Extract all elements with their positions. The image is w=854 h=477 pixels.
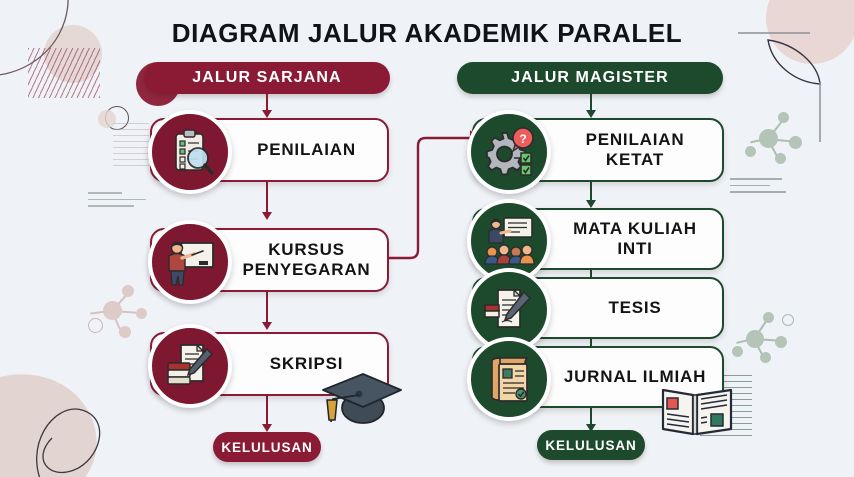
clipboard-magnifier-icon	[148, 110, 232, 194]
line-group-left	[88, 192, 150, 212]
small-beige-circle-top-left	[98, 110, 116, 128]
svg-text:?: ?	[519, 132, 526, 146]
grey-line-vertical-top-right	[819, 82, 821, 142]
diagram-canvas: DIAGRAM JALUR AKADEMIK PARALEL JALUR SAR…	[0, 0, 854, 477]
teacher-whiteboard-icon	[148, 220, 232, 304]
thin-ring-outline-top-left	[105, 106, 129, 130]
curved-line-bottom-left	[30, 388, 180, 477]
green-molecule-top-right	[742, 110, 804, 168]
header-pill-sarjana[interactable]: JALUR SARJANA	[144, 62, 390, 94]
green-molecule-bottom-right	[730, 312, 792, 366]
red-hatch-lines-top-left	[28, 48, 100, 98]
books-document-pen-icon	[148, 324, 232, 408]
line-group-top-right	[730, 178, 790, 198]
end-pill-kelulusan-sarjana[interactable]: KELULUSAN	[213, 432, 321, 462]
gear-question-checklist-icon: ?	[467, 110, 551, 194]
header-pill-magister[interactable]: JALUR MAGISTER	[457, 62, 723, 94]
grey-hatch-lines-left	[113, 123, 149, 169]
end-pill-kelulusan-magister[interactable]: KELULUSAN	[537, 430, 645, 460]
page-title: DIAGRAM JALUR AKADEMIK PARALEL	[0, 18, 854, 49]
scroll-certificate-icon	[467, 337, 551, 421]
beige-blob-bottom-left	[0, 372, 155, 477]
pink-molecule-bottom-left	[88, 284, 150, 342]
